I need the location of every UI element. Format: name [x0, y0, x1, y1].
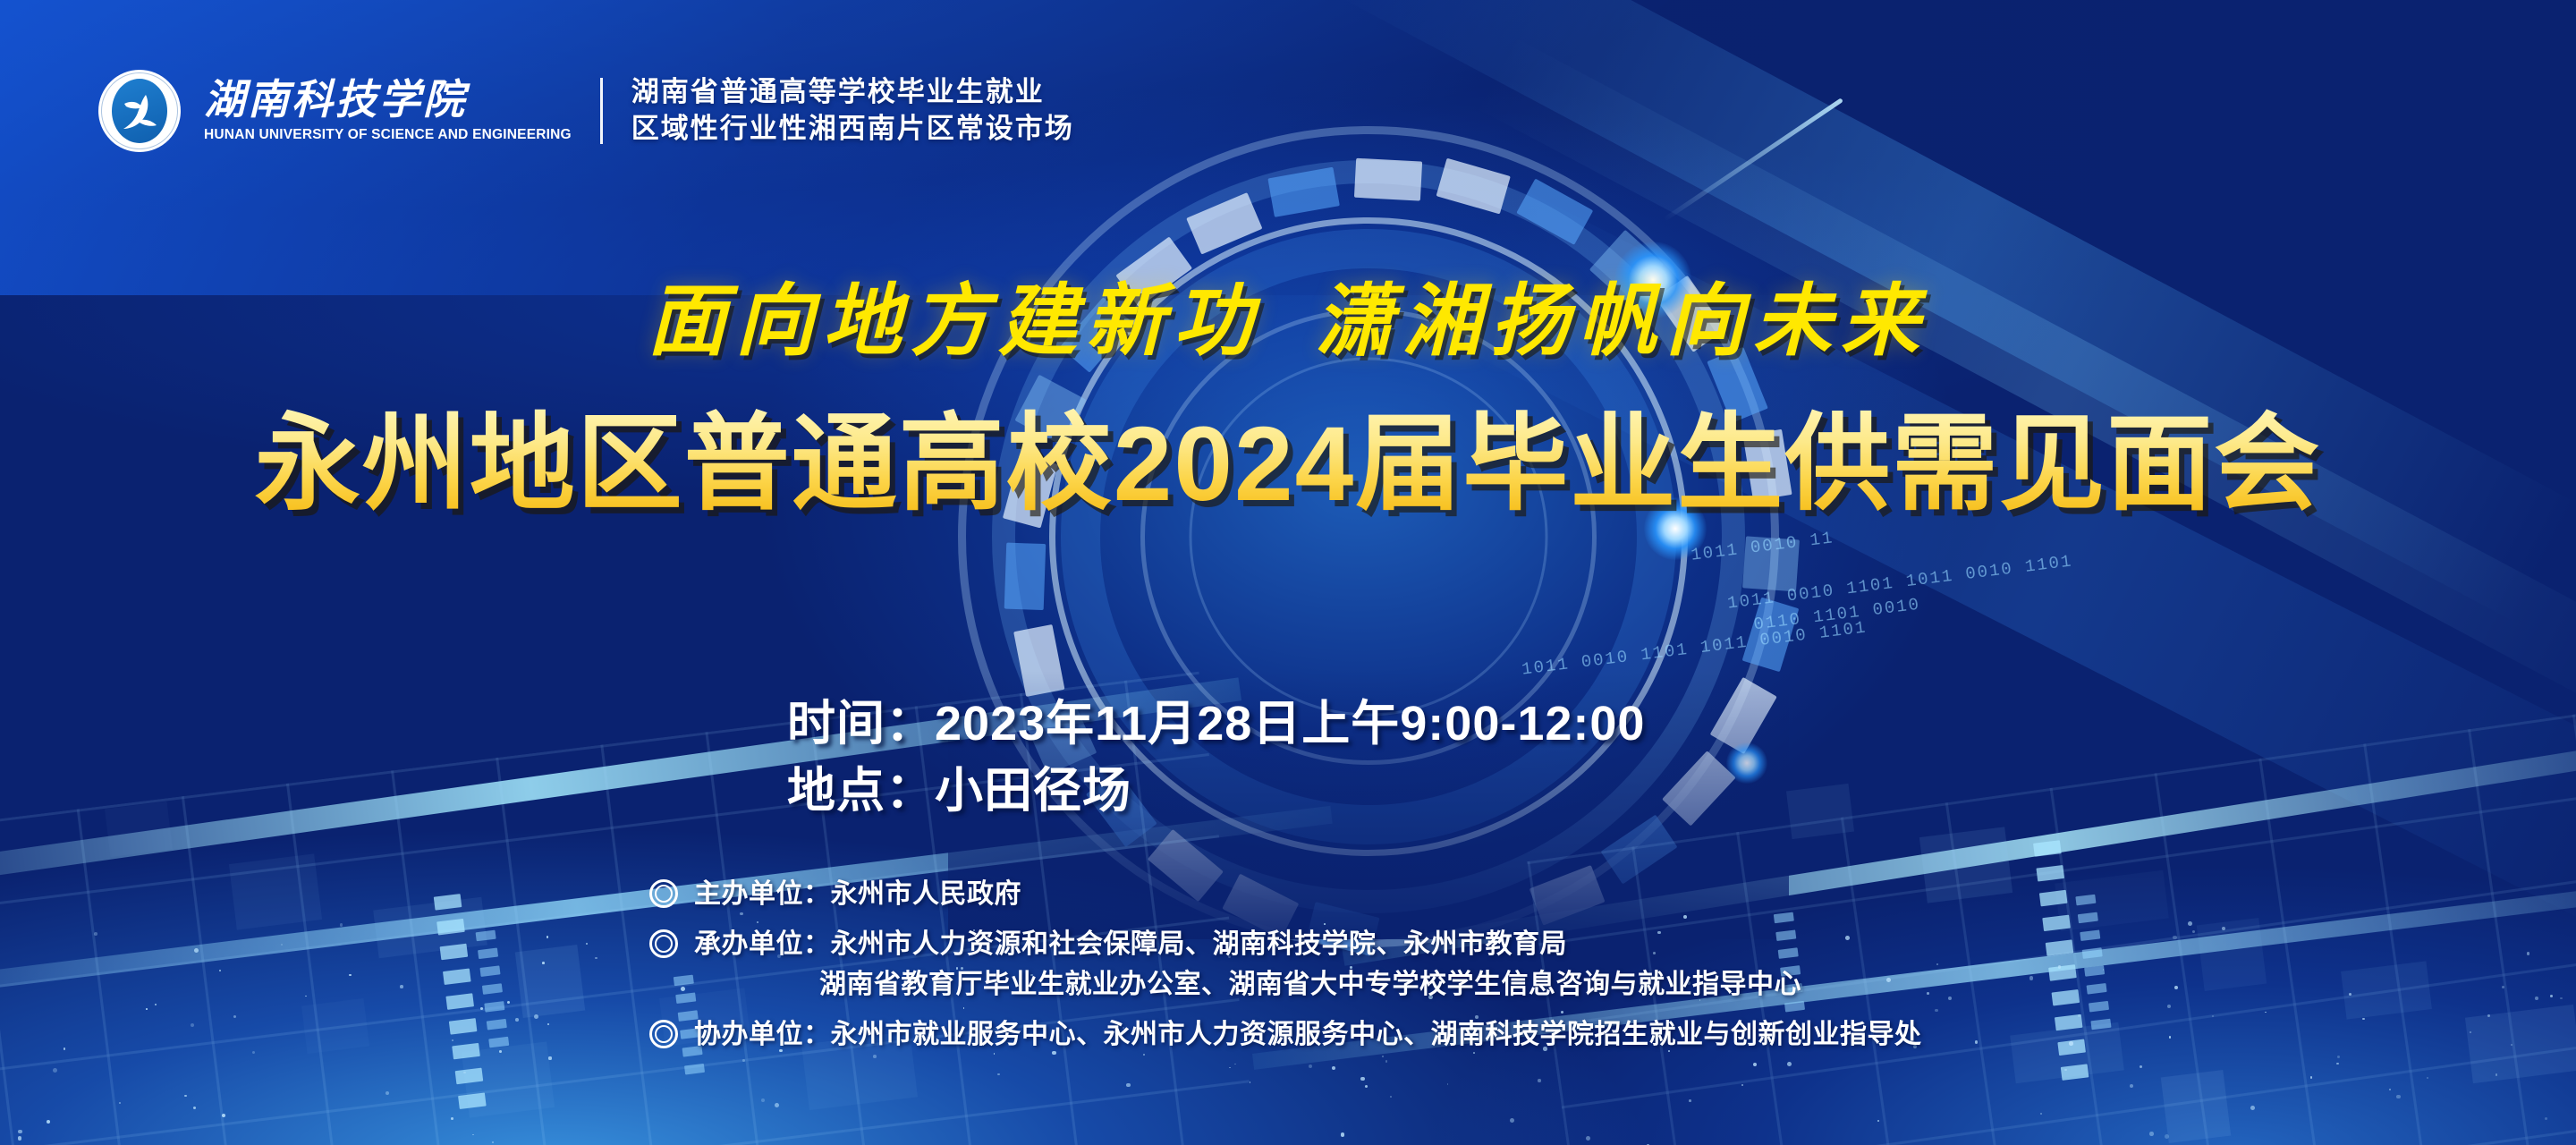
university-name-en: HUNAN UNIVERSITY OF SCIENCE AND ENGINEER…	[204, 127, 572, 143]
slogan-part-2: 潇湘扬帆向未来	[1315, 279, 1928, 366]
double-circle-bullet-icon	[649, 1020, 678, 1048]
organizer-row: 承办单位：永州市人力资源和社会保障局、湖南科技学院、永州市教育局 湖南省教育厅毕…	[649, 925, 1922, 1005]
event-slogan: 面向地方建新功潇湘扬帆向未来	[0, 258, 2576, 371]
university-name-block: 湖南科技学院 HUNAN UNIVERSITY OF SCIENCE AND E…	[204, 79, 572, 142]
organizer-coorganizer: 承办单位：永州市人力资源和社会保障局、湖南科技学院、永州市教育局	[694, 925, 1801, 964]
university-name-cn: 湖南科技学院	[204, 79, 572, 122]
organizer-row: 协办单位：永州市就业服务中心、永州市人力资源服务中心、湖南科技学院招生就业与创新…	[649, 1015, 1922, 1055]
organizer-row: 主办单位：永州市人民政府	[649, 875, 1922, 914]
banner-content: 湖南科技学院 HUNAN UNIVERSITY OF SCIENCE AND E…	[0, 0, 2576, 1145]
university-crest-icon	[98, 70, 181, 152]
event-banner: 1011 0010 11 1011 0010 1101 1011 0010 11…	[0, 0, 2576, 1145]
event-time: 时间：2023年11月28日上午9:00-12:00	[787, 691, 1645, 758]
header-subtitle: 湖南省普通高等学校毕业生就业 区域性行业性湘西南片区常设市场	[631, 77, 1074, 144]
event-place: 地点：小田径场	[787, 758, 1645, 825]
subtitle-line-1: 湖南省普通高等学校毕业生就业	[631, 77, 1074, 108]
crest-bird-icon	[119, 89, 160, 134]
banner-header: 湖南科技学院 HUNAN UNIVERSITY OF SCIENCE AND E…	[98, 70, 1074, 152]
slogan-part-1: 面向地方建新功	[648, 279, 1261, 366]
event-info: 时间：2023年11月28日上午9:00-12:00 地点：小田径场	[787, 691, 1645, 824]
double-circle-bullet-icon	[649, 879, 678, 908]
double-circle-bullet-icon	[649, 929, 678, 958]
organizer-coorganizer-second: 湖南省教育厅毕业生就业办公室、湖南省大中专学校学生信息咨询与就业指导中心	[819, 965, 1801, 1005]
subtitle-line-2: 区域性行业性湘西南片区常设市场	[631, 114, 1074, 145]
organizer-host: 主办单位：永州市人民政府	[694, 875, 1021, 914]
organizer-list: 主办单位：永州市人民政府 承办单位：永州市人力资源和社会保障局、湖南科技学院、永…	[649, 875, 1922, 1064]
crest-inner	[112, 79, 167, 143]
header-divider	[600, 78, 603, 144]
page-title: 永州地区普通高校2024届毕业生供需见面会	[0, 407, 2576, 523]
organizer-assistant: 协办单位：永州市就业服务中心、永州市人力资源服务中心、湖南科技学院招生就业与创新…	[694, 1015, 1922, 1055]
